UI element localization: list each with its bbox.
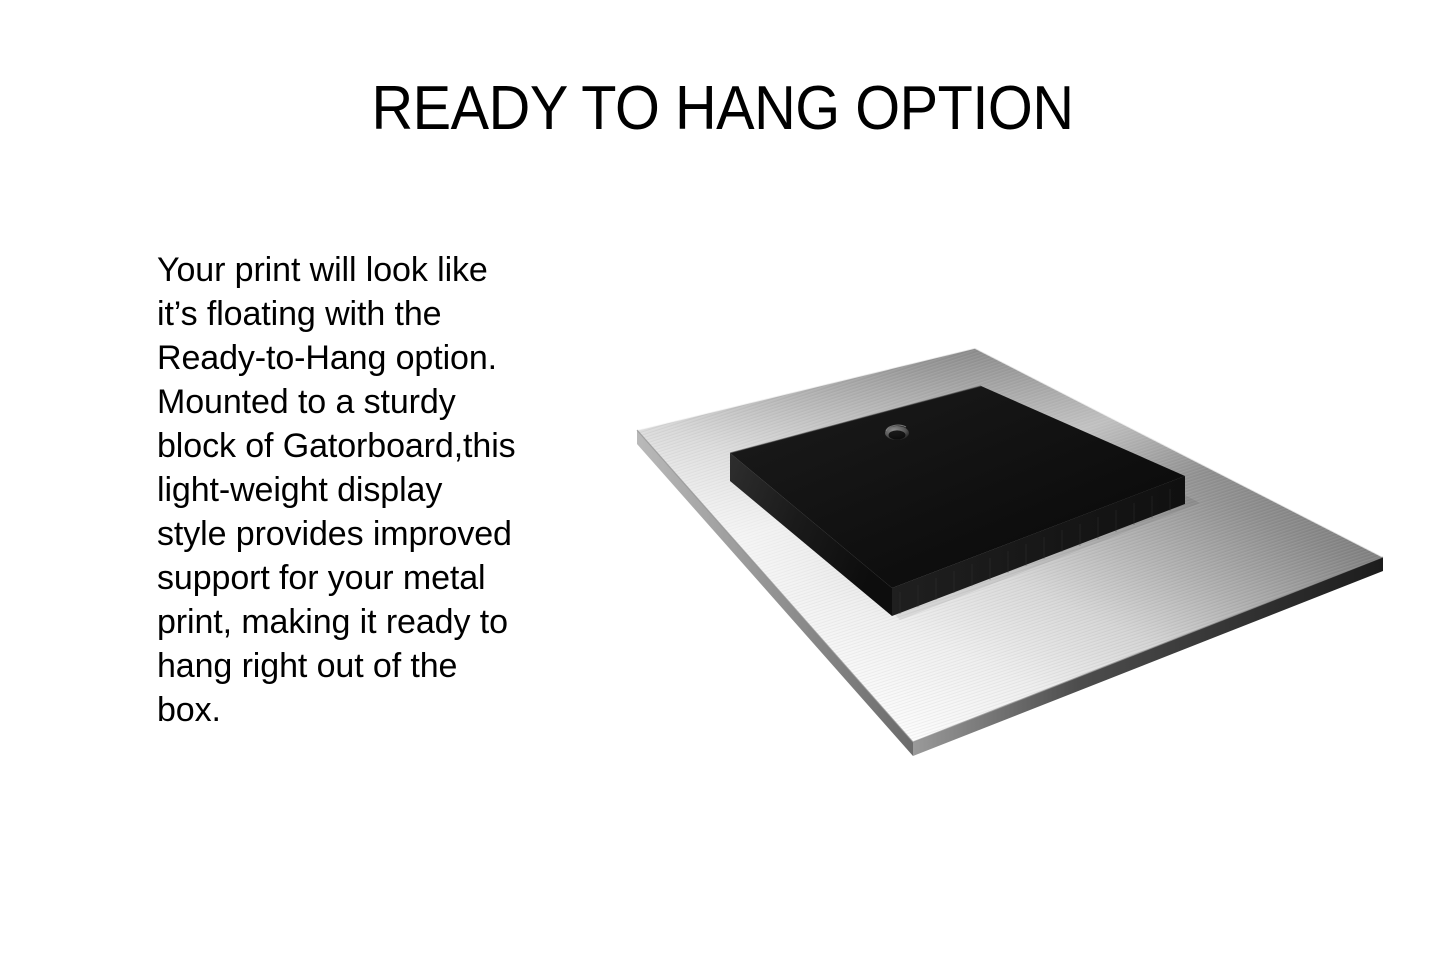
page-title: READY TO HANG OPTION bbox=[51, 78, 1395, 140]
description-line: style provides improved bbox=[157, 512, 567, 556]
description-line: support for your metal bbox=[157, 556, 567, 600]
description-line: Mounted to a sturdy bbox=[157, 380, 567, 424]
hanging-hole-bore bbox=[889, 430, 906, 439]
description-line: block of Gatorboard,this bbox=[157, 424, 567, 468]
description-paragraph: Your print will look like it’s floating … bbox=[157, 248, 567, 732]
description-line: it’s floating with the bbox=[157, 292, 567, 336]
description-line: hang right out of the bbox=[157, 644, 567, 688]
description-line: Your print will look like bbox=[157, 248, 567, 292]
description-line: Ready-to-Hang option. bbox=[157, 336, 567, 380]
description-line: print, making it ready to bbox=[157, 600, 567, 644]
description-line: light-weight display bbox=[157, 468, 567, 512]
description-line: box. bbox=[157, 688, 567, 732]
slide-canvas: READY TO HANG OPTION Your print will loo… bbox=[0, 0, 1445, 963]
product-illustration bbox=[600, 320, 1420, 780]
